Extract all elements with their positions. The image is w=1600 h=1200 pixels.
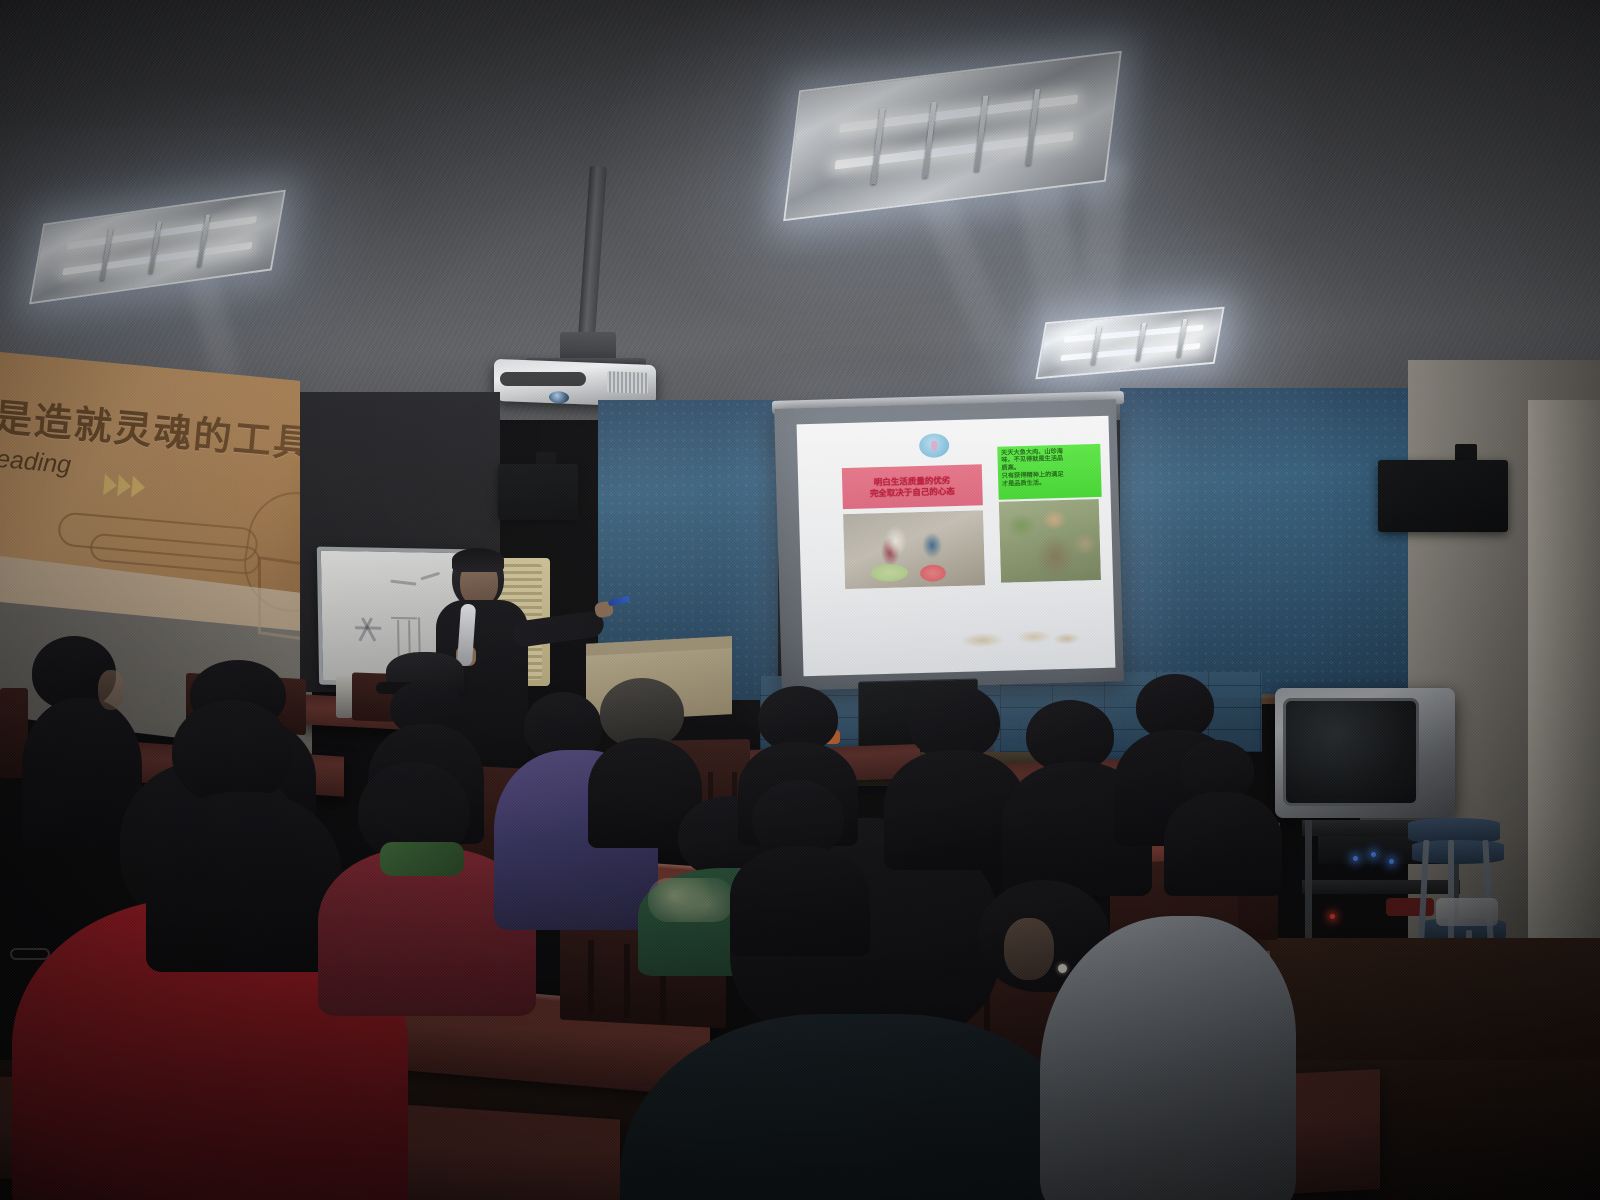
tv-stand-shelf — [1302, 880, 1460, 894]
slide-footer-graphic — [933, 613, 1096, 658]
audience-body — [730, 846, 870, 956]
audience-head — [908, 684, 1000, 760]
louver-blade — [1177, 319, 1188, 357]
slide-green-text-box: 天天大鱼大肉、山珍海 味，不见得就是生活品 质高。 只有获得精神上的满足 才是品… — [997, 444, 1101, 500]
device-led-indicator — [1353, 856, 1358, 861]
slide-green-line-5: 才是品质生活。 — [1002, 478, 1097, 488]
chevron-right-icon — [103, 473, 118, 496]
louver-blade — [1091, 326, 1102, 364]
wall-subline-text: eading — [0, 445, 72, 480]
whiteboard-sketch — [355, 627, 381, 630]
chevron-right-icon — [117, 474, 132, 497]
fluorescent-tube — [834, 131, 1074, 170]
tv-stand-leg — [1305, 820, 1312, 938]
cloth-on-stool — [1436, 898, 1498, 926]
wall-speaker-right — [1378, 460, 1508, 532]
slide-photo-food — [843, 510, 985, 589]
blue-circle-bullet-icon — [919, 433, 950, 458]
device-led-indicator — [1389, 859, 1394, 864]
audience-body — [1164, 792, 1282, 896]
audience-body — [146, 792, 342, 972]
audience-head — [172, 700, 292, 804]
whiteboard-sketch — [390, 579, 416, 585]
projector-lens — [549, 391, 569, 404]
food-photo-content — [843, 510, 985, 589]
audience-face-profile — [1004, 918, 1054, 980]
slide-red-line-2: 完全取决于自己的心态 — [870, 486, 955, 499]
presenter-hair — [452, 548, 504, 572]
glasses-on-table — [10, 948, 50, 960]
device-power-led — [1330, 914, 1335, 919]
tv-screen — [1283, 698, 1419, 806]
device-led-indicator — [1371, 852, 1376, 857]
slide-photo-man — [998, 499, 1100, 582]
thermos-on-table — [336, 676, 353, 718]
crt-television — [1275, 688, 1455, 818]
earring-icon — [1058, 964, 1067, 973]
projection-screen: 明白生活质量的优劣 完全取决于自己的心态 天天大鱼大肉、山珍海 味，不见得就是生… — [797, 416, 1116, 677]
fluorescent-tube — [63, 241, 254, 275]
projector-cable — [500, 372, 586, 386]
red-object-on-shelf — [1386, 898, 1434, 916]
green-scarf — [380, 842, 464, 876]
whiteboard-sketch — [420, 572, 440, 581]
bullet-inner-glyph — [931, 440, 938, 450]
louver-blade — [1136, 322, 1147, 360]
sweater-pattern — [648, 878, 734, 922]
chevron-right-icon — [131, 475, 146, 498]
whiteboard-sketch — [397, 620, 400, 658]
chair-slat — [588, 940, 594, 1014]
wall-speaker-left — [498, 464, 578, 520]
slide-red-text-box: 明白生活质量的优劣 完全取决于自己的心态 — [841, 465, 982, 509]
blue-wall-texture — [1120, 388, 1410, 698]
whiteboard-sketch — [391, 617, 417, 619]
projector-vent — [607, 371, 648, 394]
classroom-lecture-photo: 是造就灵魂的工具 eading 明白生活质量的优劣 完全取决于自己的心态 — [0, 0, 1600, 1200]
fluorescent-tube — [838, 95, 1078, 134]
audience-face-profile — [98, 670, 124, 710]
blue-wall-right — [1120, 388, 1410, 698]
chair-slat — [624, 944, 630, 1018]
man-photo-content — [998, 499, 1100, 582]
